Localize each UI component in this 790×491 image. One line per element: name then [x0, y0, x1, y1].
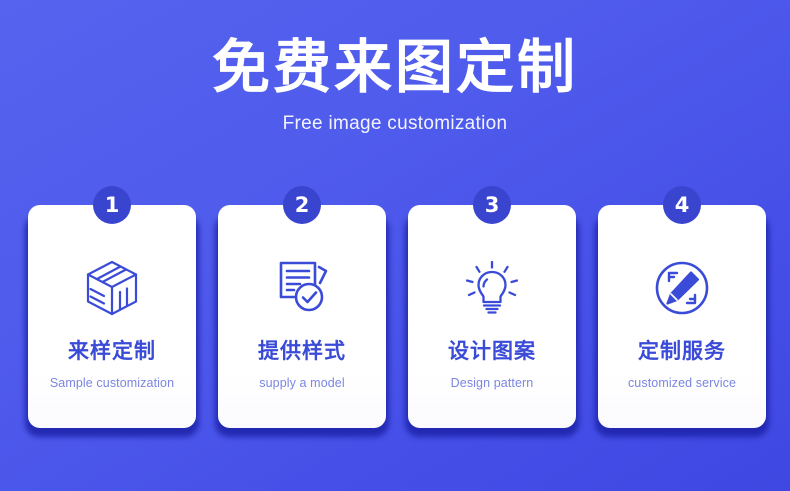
step-number-badge: 2 [283, 186, 321, 224]
box-icon [81, 257, 143, 319]
card-subtitle: Sample customization [50, 365, 174, 390]
pencil-circle-icon [651, 257, 713, 319]
feature-card-4[interactable]: 4 定制服务 customized service [598, 205, 766, 431]
page-title: 免费来图定制 [0, 0, 790, 99]
card-title: 提供样式 [258, 319, 346, 365]
feature-card-1[interactable]: 1 来样定制 Sample customization [28, 205, 196, 431]
lightbulb-icon [461, 257, 523, 319]
feature-card-3[interactable]: 3 [408, 205, 576, 431]
feature-card-list: 1 来样定制 Sample customization [28, 205, 766, 431]
step-number-badge: 1 [93, 186, 131, 224]
card-title: 定制服务 [638, 319, 726, 365]
document-check-icon [271, 257, 333, 319]
card-subtitle: supply a model [259, 365, 344, 390]
step-number-badge: 3 [473, 186, 511, 224]
card-title: 设计图案 [448, 319, 536, 365]
card-body[interactable]: 3 [408, 205, 576, 428]
card-body[interactable]: 2 提供样式 supply a model [218, 205, 386, 428]
banner-header: 免费来图定制 Free image customization [0, 0, 790, 135]
card-body[interactable]: 1 来样定制 Sample customization [28, 205, 196, 428]
card-title: 来样定制 [68, 319, 156, 365]
card-subtitle: Design pattern [451, 365, 534, 390]
feature-card-2[interactable]: 2 提供样式 supply a model [218, 205, 386, 431]
card-subtitle: customized service [628, 365, 736, 390]
card-body[interactable]: 4 定制服务 customized service [598, 205, 766, 428]
step-number-badge: 4 [663, 186, 701, 224]
promo-banner: 免费来图定制 Free image customization 1 [0, 0, 790, 491]
page-subtitle: Free image customization [0, 99, 790, 135]
